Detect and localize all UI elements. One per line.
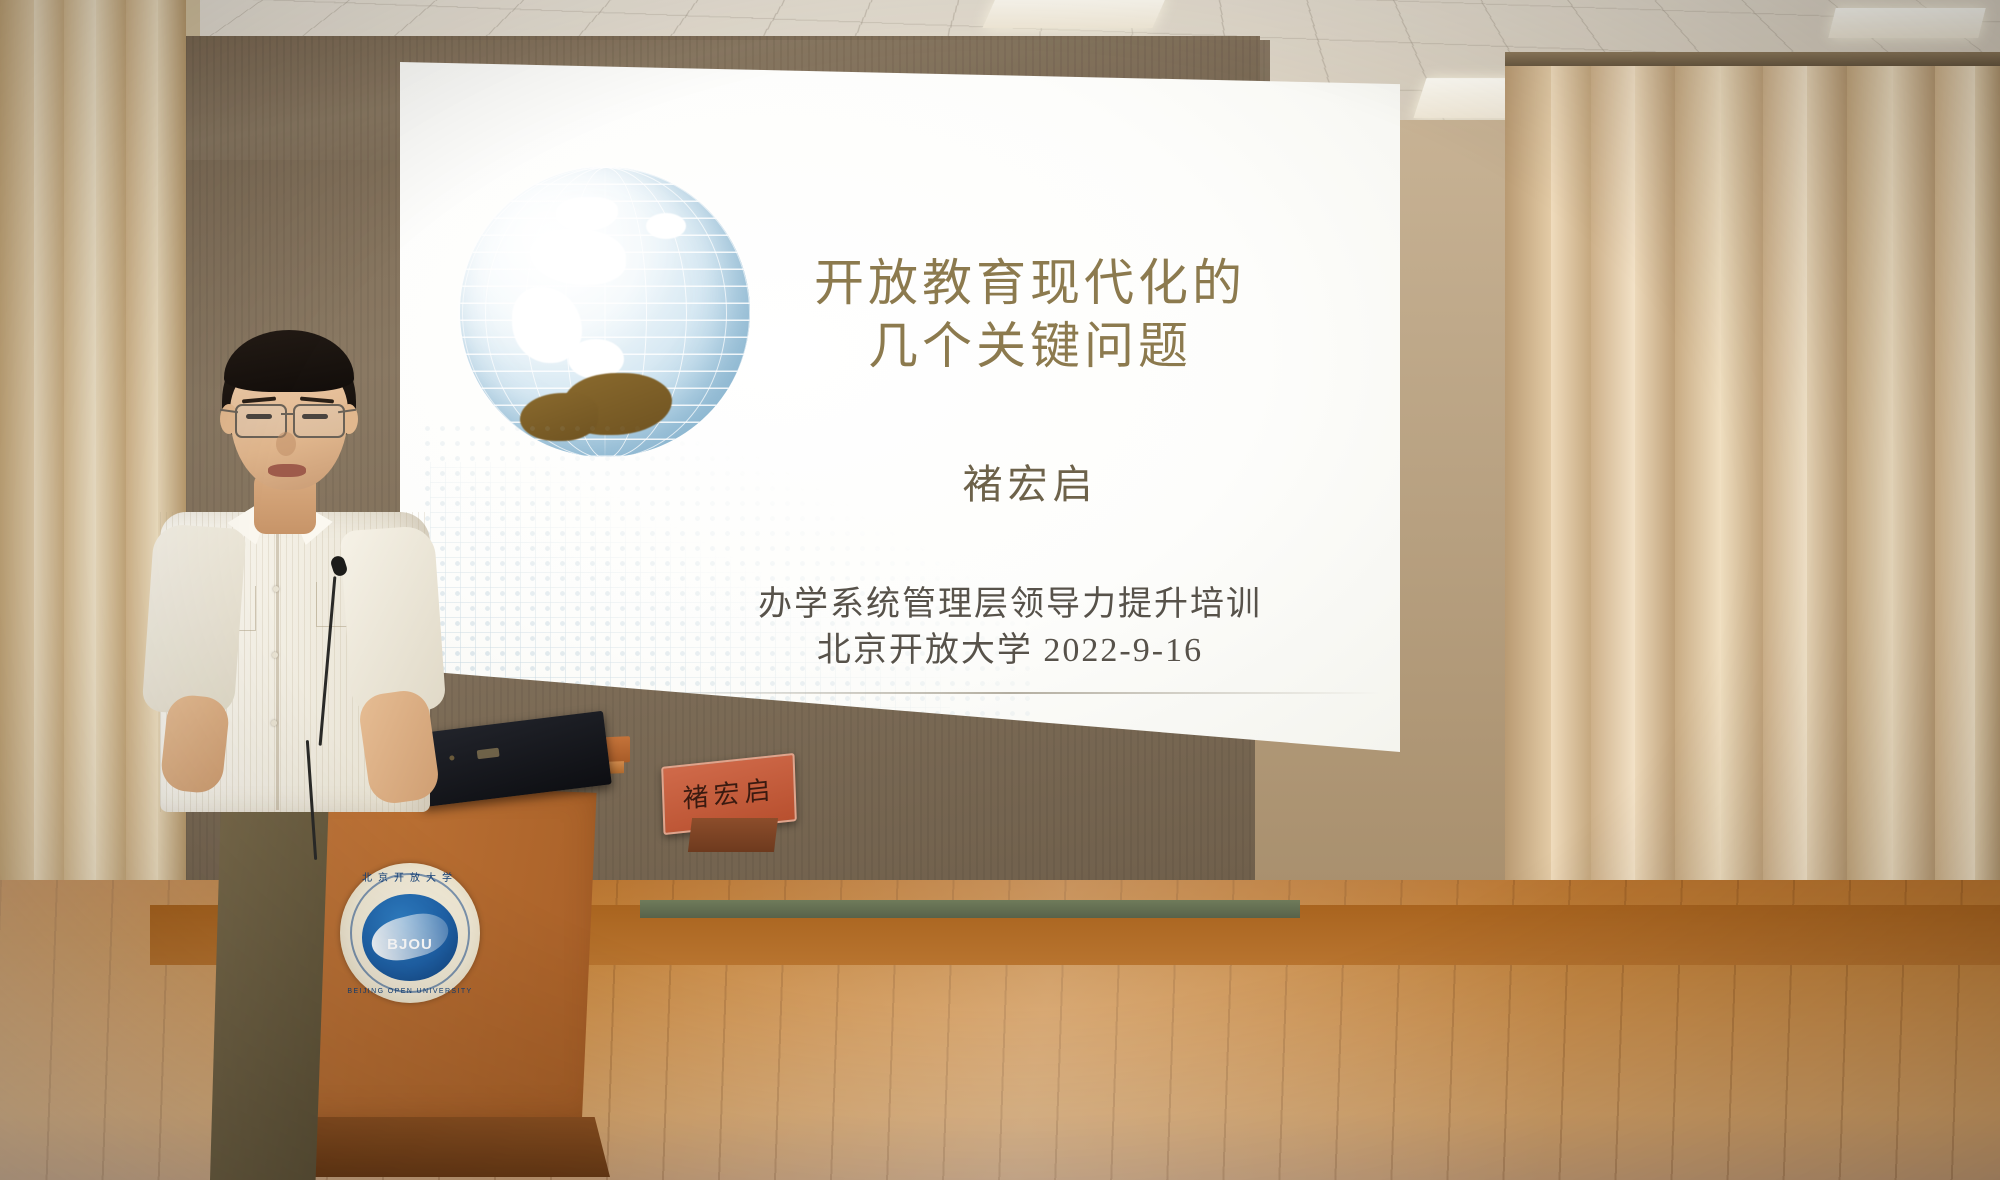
shirt-button bbox=[271, 720, 277, 726]
shirt-button bbox=[272, 652, 278, 658]
speaker-left-sleeve bbox=[142, 523, 247, 717]
speaker-mouth bbox=[268, 464, 306, 477]
slide-title: 开放教育现代化的 几个关键问题 bbox=[700, 252, 1360, 378]
shirt-button bbox=[273, 586, 279, 592]
lecture-hall-scene: 开放教育现代化的 几个关键问题 褚宏启 办学系统管理层领导力提升培训 北京开放大… bbox=[0, 0, 2000, 1180]
slide-footer-line-2: 北京开放大学 2022-9-16 bbox=[650, 628, 1370, 674]
slide-author: 褚宏启 bbox=[700, 452, 1360, 510]
projection-screen: 开放教育现代化的 几个关键问题 褚宏启 办学系统管理层领导力提升培训 北京开放大… bbox=[400, 62, 1400, 752]
ceiling-light-panel bbox=[1828, 8, 1985, 38]
curtain-rod bbox=[1505, 52, 2000, 66]
speaker-right-sleeve bbox=[340, 525, 447, 715]
slide-divider bbox=[640, 692, 1380, 694]
ceiling-light-panel bbox=[982, 0, 1167, 28]
speaker-nose bbox=[276, 432, 296, 456]
nameplate-stand bbox=[688, 818, 778, 852]
slide-title-line-2: 几个关键问题 bbox=[700, 315, 1360, 378]
slide-footer: 办学系统管理层领导力提升培训 北京开放大学 2022-9-16 bbox=[650, 582, 1370, 673]
shirt-placket bbox=[276, 530, 279, 810]
speaker-glasses-right-lens bbox=[293, 404, 345, 438]
speaker-left-forearm bbox=[159, 693, 231, 795]
slide-title-line-1: 开放教育现代化的 bbox=[700, 252, 1360, 315]
slide-surface: 开放教育现代化的 几个关键问题 褚宏启 办学系统管理层领导力提升培训 北京开放大… bbox=[400, 62, 1400, 752]
speaker bbox=[150, 380, 550, 1180]
stage-step bbox=[640, 900, 1300, 918]
nameplate-text: 褚宏启 bbox=[664, 767, 795, 818]
slide-footer-line-1: 办学系统管理层领导力提升培训 bbox=[650, 582, 1370, 628]
speaker-glasses-bridge bbox=[281, 413, 295, 415]
speaker-glasses-left-lens bbox=[235, 404, 287, 438]
